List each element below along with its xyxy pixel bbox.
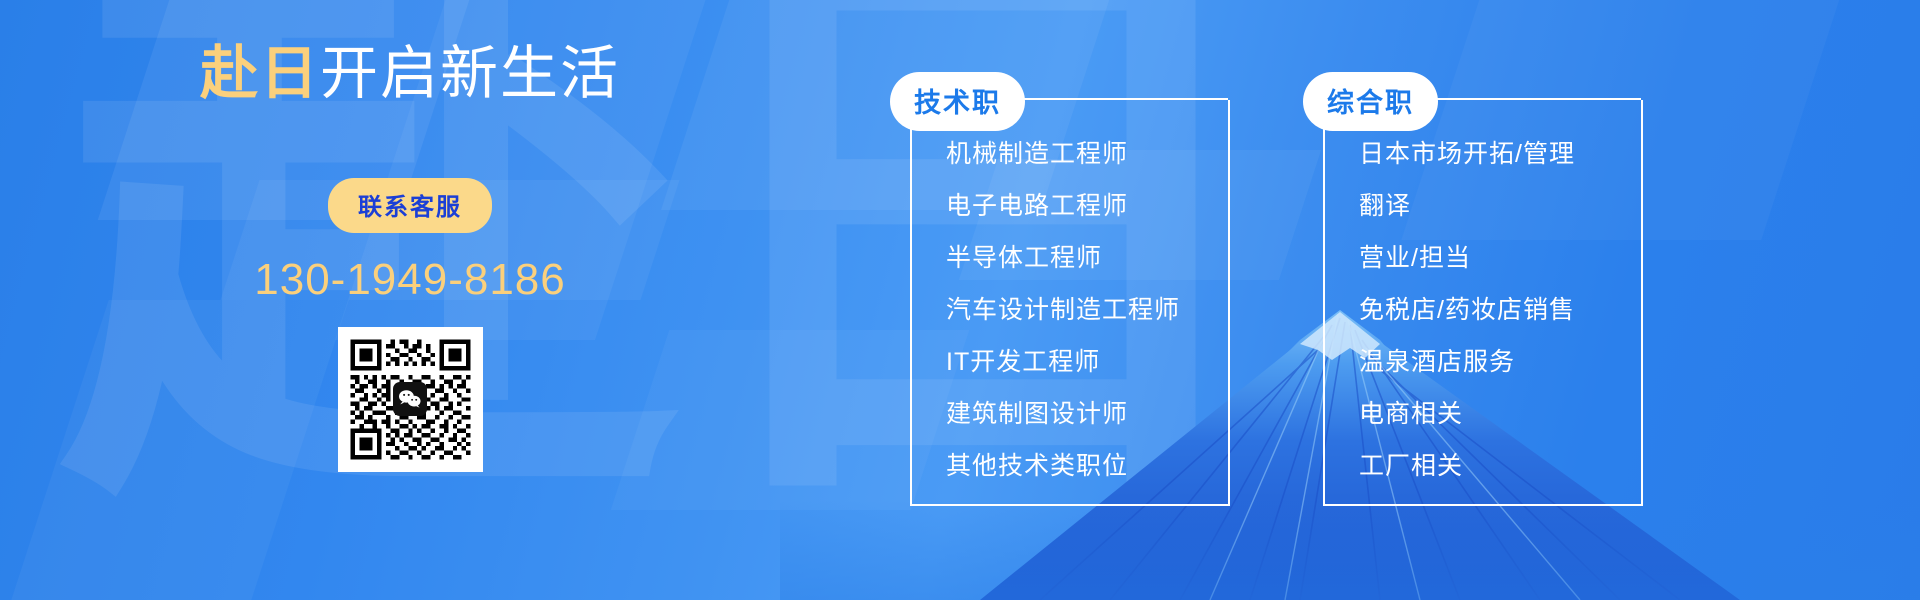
category-box-tech: 技术职 机械制造工程师 电子电路工程师 半导体工程师 汽车设计制造工程师 IT开… [910, 100, 1230, 506]
category-box-general: 综合职 日本市场开拓/管理 翻译 营业/担当 免税店/药妆店销售 温泉酒店服务 … [1323, 100, 1643, 506]
list-item[interactable]: 温泉酒店服务 [1359, 350, 1641, 375]
list-item[interactable]: 营业/担当 [1359, 246, 1641, 271]
list-item[interactable]: 电商相关 [1359, 402, 1641, 427]
phone-number: 130-1949-8186 [0, 255, 820, 305]
list-item[interactable]: 建筑制图设计师 [946, 402, 1228, 427]
list-item[interactable]: 翻译 [1359, 194, 1641, 219]
list-item[interactable]: 汽车设计制造工程师 [946, 298, 1228, 323]
left-content: 赴日开启新生活 联系客服 130-1949-8186 [0, 0, 820, 600]
wechat-icon [393, 382, 427, 416]
list-item[interactable]: 免税店/药妆店销售 [1359, 298, 1641, 323]
list-item[interactable]: 半导体工程师 [946, 246, 1228, 271]
category-badge-tech[interactable]: 技术职 [890, 72, 1025, 131]
job-list-general: 日本市场开拓/管理 翻译 营业/担当 免税店/药妆店销售 温泉酒店服务 电商相关… [1325, 100, 1641, 479]
category-badge-general[interactable]: 综合职 [1303, 72, 1438, 131]
list-item[interactable]: 机械制造工程师 [946, 142, 1228, 167]
list-item[interactable]: 其他技术类职位 [946, 454, 1228, 479]
headline-accent: 赴日 [200, 41, 320, 106]
promo-banner: 赴日 [0, 0, 1920, 600]
contact-customer-service-button[interactable]: 联系客服 [328, 178, 492, 233]
wechat-glyph [398, 389, 422, 409]
page-title: 赴日开启新生活 [0, 42, 820, 106]
list-item[interactable]: 日本市场开拓/管理 [1359, 142, 1641, 167]
job-list-tech: 机械制造工程师 电子电路工程师 半导体工程师 汽车设计制造工程师 IT开发工程师… [912, 100, 1228, 479]
headline-plain: 开启新生活 [320, 41, 620, 106]
wechat-qr-code[interactable] [338, 327, 483, 472]
list-item[interactable]: IT开发工程师 [946, 350, 1228, 375]
list-item[interactable]: 电子电路工程师 [946, 194, 1228, 219]
list-item[interactable]: 工厂相关 [1359, 454, 1641, 479]
